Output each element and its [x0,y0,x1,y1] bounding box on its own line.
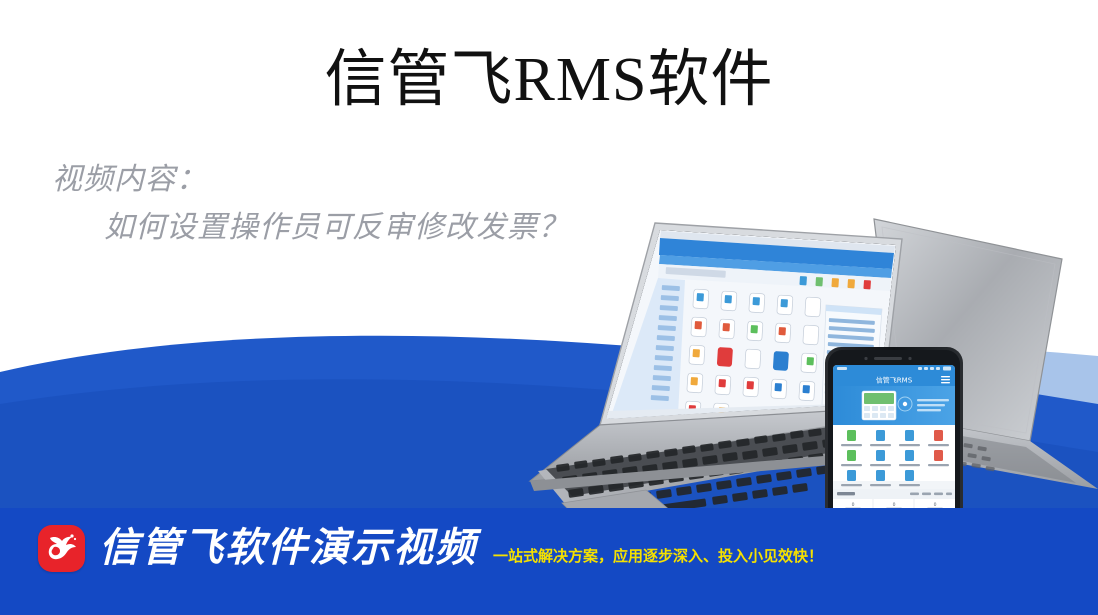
slide-title: 信管飞RMS软件 [0,47,1098,114]
brand-tagline: 一站式解决方案，应用逐步深入、投入小见效快！ [493,545,823,566]
device-mockup-group: 信管飞RMS [470,205,1098,550]
devices-illustration: 信管飞RMS [470,205,1098,550]
hamburger-icon [941,376,950,383]
video-content-label: 视频内容： [52,160,569,200]
phone-app-screen: 信管飞RMS [833,365,955,531]
brand-name: 信管飞软件演示视频 [99,525,477,572]
feiyi-bird-logo-icon [38,525,85,572]
presentation-slide: 信管飞RMS软件 视频内容： 如何设置操作员可反审修改发票？ [0,0,1098,615]
svg-text:信管飞RMS: 信管飞RMS [876,376,913,385]
footer-bar: 信管飞软件演示视频 一站式解决方案，应用逐步深入、投入小见效快！ [0,508,1098,615]
